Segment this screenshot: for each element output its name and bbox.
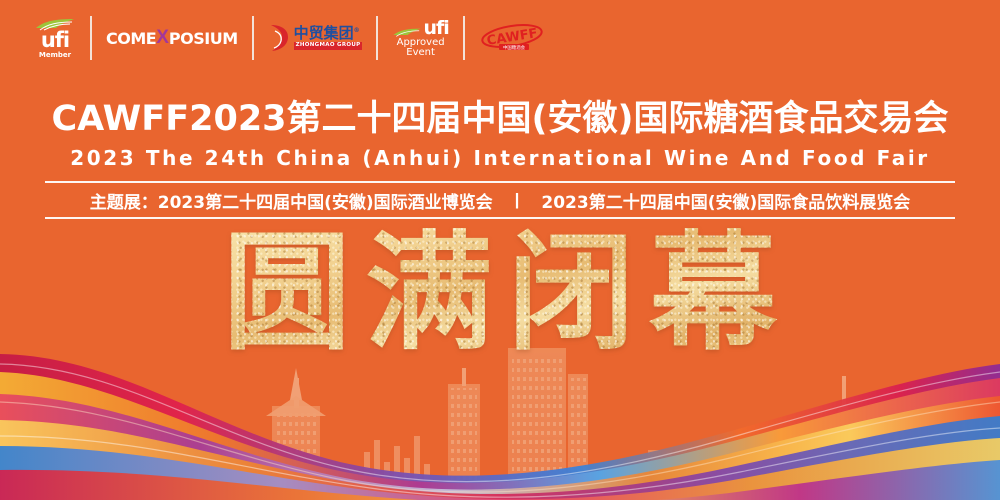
- ufi-approved-word: ufi: [423, 19, 448, 38]
- comexposium-x-accent: X: [156, 27, 169, 49]
- ufi-wing-icon: [392, 27, 422, 38]
- theme-left-label: 主题展：2023第二十四届中国(安徽)国际酒业博览会: [90, 188, 493, 213]
- ufi-member-word: ufi: [41, 30, 69, 51]
- logo-divider-3: [376, 16, 378, 60]
- logo-divider-2: [252, 16, 254, 60]
- comexposium-part2: POSIUM: [169, 29, 238, 48]
- theme-row: 主题展：2023第二十四届中国(安徽)国际酒业博览会 | 2023第二十四届中国…: [45, 183, 955, 217]
- hero-slogan-text: 圆满闭幕: [209, 228, 791, 360]
- theme-separator: |: [493, 190, 542, 210]
- comexposium-part1: COME: [106, 29, 156, 48]
- ufi-approved-line1: Approved: [397, 38, 445, 48]
- zhongmao-cn-name: 中贸集团®: [294, 26, 360, 41]
- zhongmao-en-name: ZHONGMAO GROUP: [294, 42, 363, 50]
- ufi-approved-event-logo[interactable]: ufi Approved Event: [378, 12, 462, 64]
- zhongmao-group-logo[interactable]: 中贸集团® ZHONGMAO GROUP: [254, 12, 377, 64]
- headline-block: CAWFF2023第二十四届中国(安徽)国际糖酒食品交易会 2023 The 2…: [0, 96, 1000, 219]
- registered-mark-icon: ®: [354, 27, 360, 34]
- logo-divider-4: [463, 16, 465, 60]
- theme-right-label: 2023第二十四届中国(安徽)国际食品饮料展览会: [541, 188, 910, 213]
- colorful-ribbon-wave: [0, 350, 1000, 500]
- hero-slogan-wrap: 圆满闭幕: [0, 228, 1000, 360]
- comexposium-logo[interactable]: COME X POSIUM: [92, 12, 252, 64]
- page-title-en: 2023 The 24th China (Anhui) Internationa…: [0, 143, 1000, 173]
- zhongmao-mark-icon: [268, 23, 291, 53]
- page-title-cn: CAWFF2023第二十四届中国(安徽)国际糖酒食品交易会: [0, 96, 1000, 142]
- cawff-logo[interactable]: CAWFF 中国糖酒会: [465, 12, 559, 64]
- ufi-approved-line2: Event: [406, 48, 435, 58]
- theme-band: 主题展：2023第二十四届中国(安徽)国际酒业博览会 | 2023第二十四届中国…: [45, 181, 955, 219]
- ufi-member-logo[interactable]: ufi Member: [20, 12, 90, 64]
- event-banner: ufi Member COME X POSIUM 中贸集团®: [0, 0, 1000, 500]
- svg-text:中国糖酒会: 中国糖酒会: [503, 44, 526, 51]
- ufi-member-sub: Member: [39, 52, 71, 59]
- logo-divider-1: [90, 16, 92, 60]
- rule-top: [45, 181, 955, 183]
- partner-logo-strip: ufi Member COME X POSIUM 中贸集团®: [20, 10, 559, 66]
- cawff-swoosh-icon: CAWFF 中国糖酒会: [479, 23, 545, 53]
